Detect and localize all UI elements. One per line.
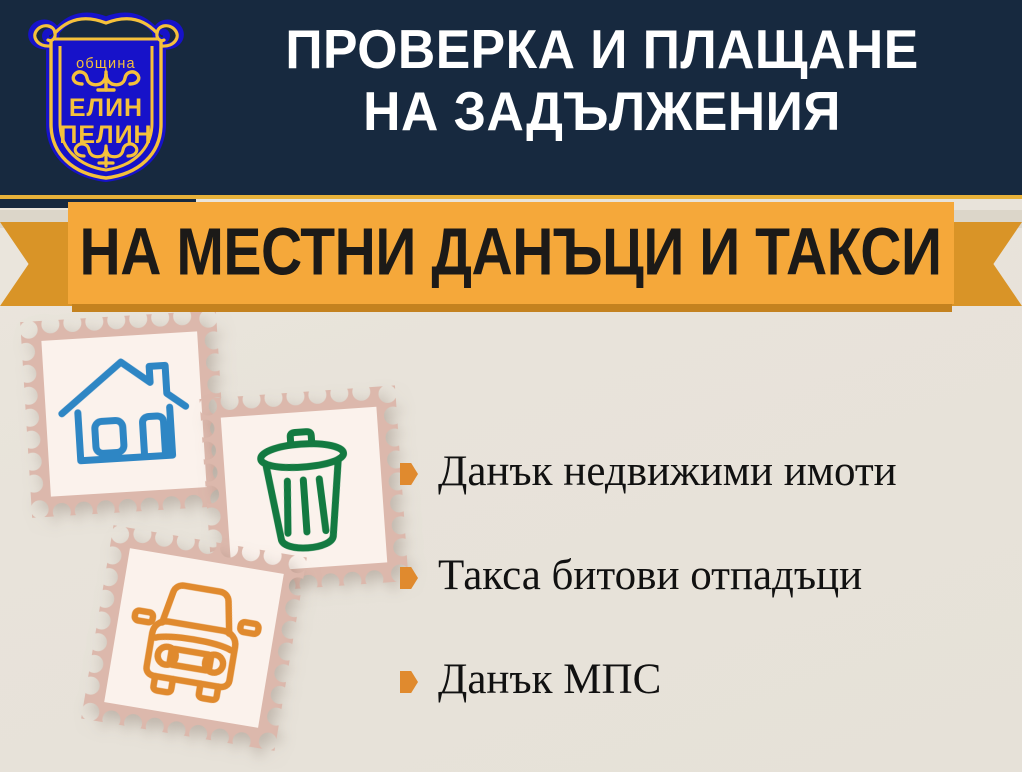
logo-subtitle: община xyxy=(76,56,136,72)
municipality-logo[interactable]: община ЕЛИН ПЕЛИН xyxy=(24,6,188,192)
list-item[interactable]: Данък недвижими имоти xyxy=(400,420,1010,524)
title-line-1: ПРОВЕРКА И ПЛАЩАНЕ xyxy=(220,18,983,80)
list-item-label: Данък МПС xyxy=(438,657,661,703)
arrow-bullet-icon xyxy=(400,463,418,485)
subtitle-ribbon: НА МЕСТНИ ДАНЪЦИ И ТАКСИ xyxy=(0,196,1022,314)
crest-shield-icon: община ЕЛИН ПЕЛИН xyxy=(24,6,188,192)
logo-line-1: ЕЛИН xyxy=(69,94,143,122)
arrow-bullet-icon xyxy=(400,567,418,589)
poster-canvas: община ЕЛИН ПЕЛИН ПРОВЕРКА И П xyxy=(0,0,1022,772)
ribbon-label: НА МЕСТНИ ДАНЪЦИ И ТАКСИ xyxy=(80,220,942,287)
list-item-label: Данък недвижими имоти xyxy=(438,449,897,495)
tax-type-list: Данък недвижими имоти Такса битови отпад… xyxy=(400,420,1010,732)
stamp-card-vehicle[interactable] xyxy=(81,525,307,751)
list-item[interactable]: Такса битови отпадъци xyxy=(400,524,1010,628)
list-item[interactable]: Данък МПС xyxy=(400,628,1010,732)
stamp-card-house[interactable] xyxy=(20,310,228,518)
ribbon-body: НА МЕСТНИ ДАНЪЦИ И ТАКСИ xyxy=(68,202,954,304)
list-item-label: Такса битови отпадъци xyxy=(438,553,862,599)
poster-title: ПРОВЕРКА И ПЛАЩАНЕ НА ЗАДЪЛЖЕНИЯ xyxy=(196,18,1008,142)
arrow-bullet-icon xyxy=(400,671,418,693)
title-line-2: НА ЗАДЪЛЖЕНИЯ xyxy=(220,80,983,142)
